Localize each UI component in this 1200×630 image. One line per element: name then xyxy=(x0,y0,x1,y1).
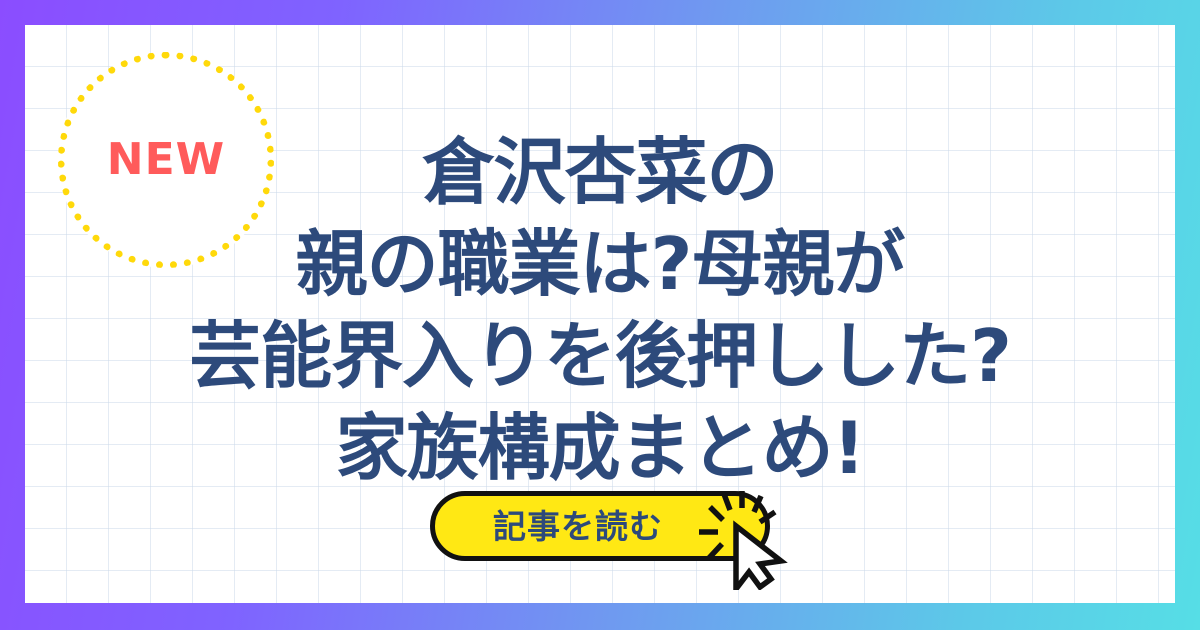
headline-line-3: 芸能界入りを後押しした? xyxy=(25,310,1175,402)
page-title: 倉沢杏菜の 親の職業は?母親が 芸能界入りを後押しした? 家族構成まとめ! xyxy=(25,126,1175,494)
read-article-label: 記事を読む xyxy=(493,510,663,543)
read-article-button[interactable]: 記事を読む xyxy=(430,491,770,561)
headline-line-4: 家族構成まとめ! xyxy=(25,402,1175,494)
headline-line-2: 親の職業は?母親が xyxy=(25,218,1175,310)
headline-line-1: 倉沢杏菜の xyxy=(25,126,1175,218)
article-thumbnail-card: NEW 倉沢杏菜の 親の職業は?母親が 芸能界入りを後押しした? 家族構成まとめ… xyxy=(0,0,1200,630)
